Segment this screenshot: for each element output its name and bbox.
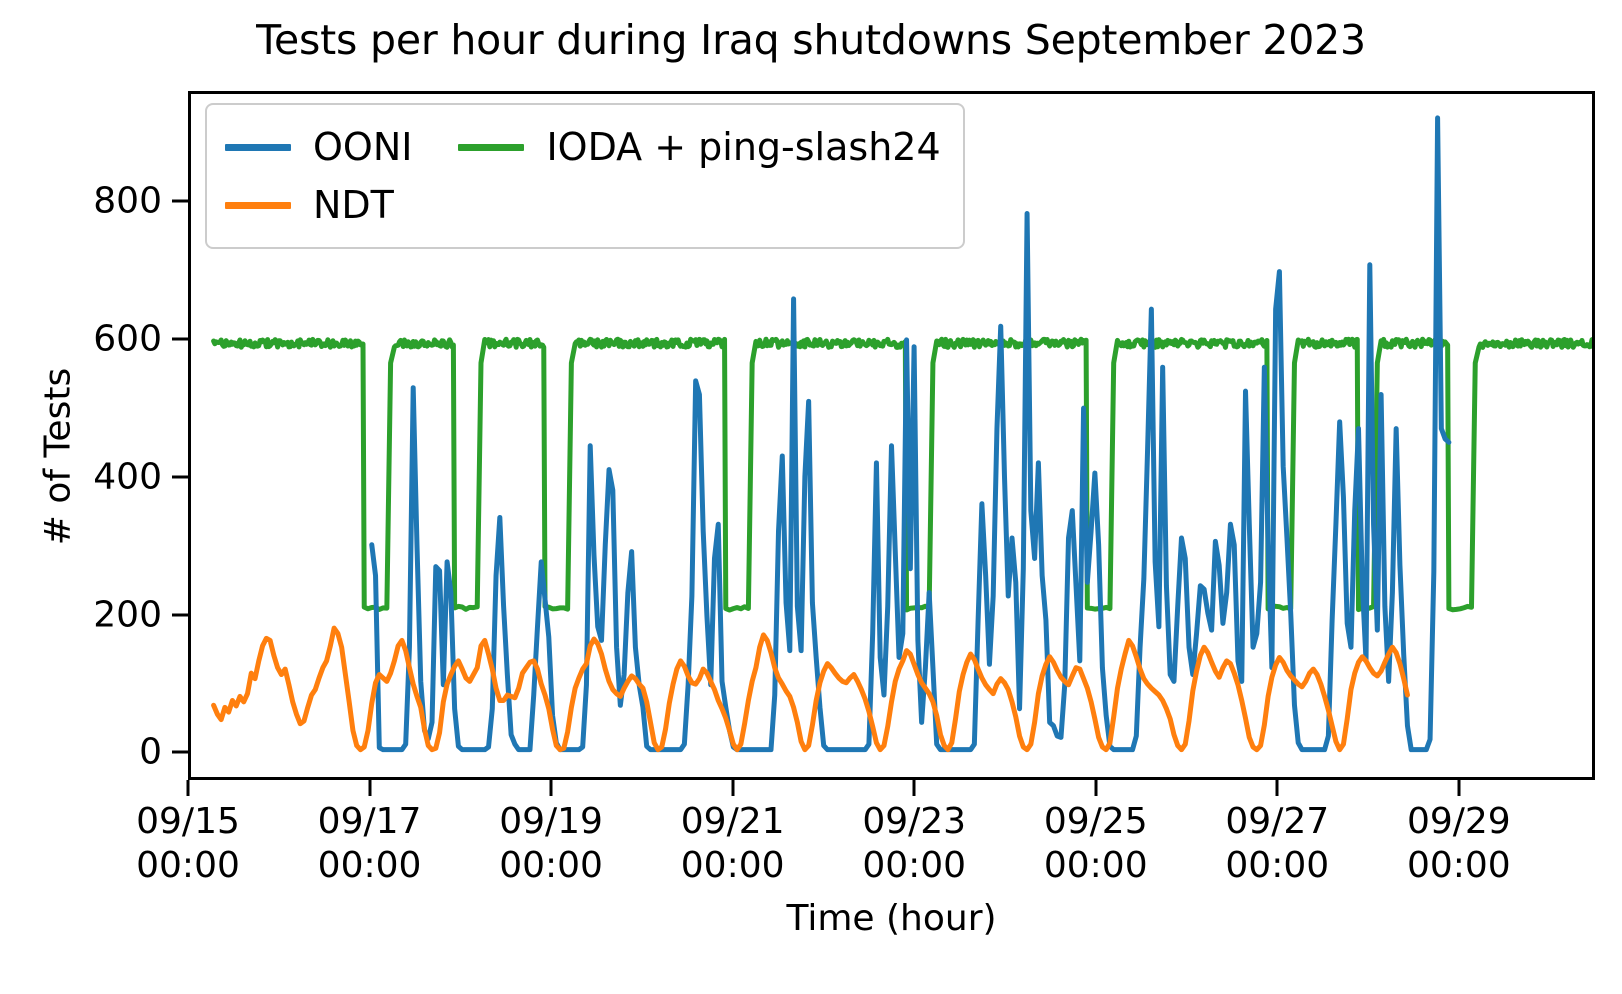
legend-label: IODA + ping-slash24 — [546, 128, 940, 166]
series-line-ndt — [214, 628, 1408, 750]
x-axis-label: Time (hour) — [188, 898, 1595, 939]
y-tick-mark — [172, 613, 188, 616]
x-tick-mark — [1276, 780, 1279, 796]
y-tick-label: 400 — [0, 456, 162, 497]
x-tick-mark — [1457, 780, 1460, 796]
y-tick-label: 0 — [0, 732, 162, 773]
legend-swatch-line-icon — [225, 202, 291, 209]
x-tick-label: 09/2900:00 — [1339, 800, 1579, 888]
legend-swatch-line-icon — [458, 144, 524, 151]
y-tick-mark — [172, 200, 188, 203]
x-tick-mark — [913, 780, 916, 796]
legend-entry[interactable]: NDT — [225, 177, 412, 233]
x-tick-mark — [550, 780, 553, 796]
x-tick-mark — [368, 780, 371, 796]
y-tick-mark — [172, 751, 188, 754]
legend-entry[interactable]: OONI — [225, 119, 412, 175]
chart-legend: OONIIODA + ping-slash24NDT — [205, 103, 965, 249]
y-tick-mark — [172, 475, 188, 478]
x-tick-date: 09/29 — [1339, 800, 1579, 844]
x-tick-time: 00:00 — [1339, 844, 1579, 888]
x-tick-mark — [187, 780, 190, 796]
y-tick-mark — [172, 338, 188, 341]
legend-swatch-line-icon — [225, 144, 291, 151]
legend-label: OONI — [313, 128, 412, 166]
x-tick-mark — [1094, 780, 1097, 796]
figure: Tests per hour during Iraq shutdowns Sep… — [0, 0, 1622, 994]
legend-entry[interactable]: IODA + ping-slash24 — [458, 119, 940, 175]
y-tick-label: 200 — [0, 594, 162, 635]
chart-title: Tests per hour during Iraq shutdowns Sep… — [0, 16, 1622, 64]
x-tick-mark — [731, 780, 734, 796]
y-tick-label: 600 — [0, 319, 162, 360]
y-tick-label: 800 — [0, 181, 162, 222]
legend-label: NDT — [313, 186, 394, 224]
